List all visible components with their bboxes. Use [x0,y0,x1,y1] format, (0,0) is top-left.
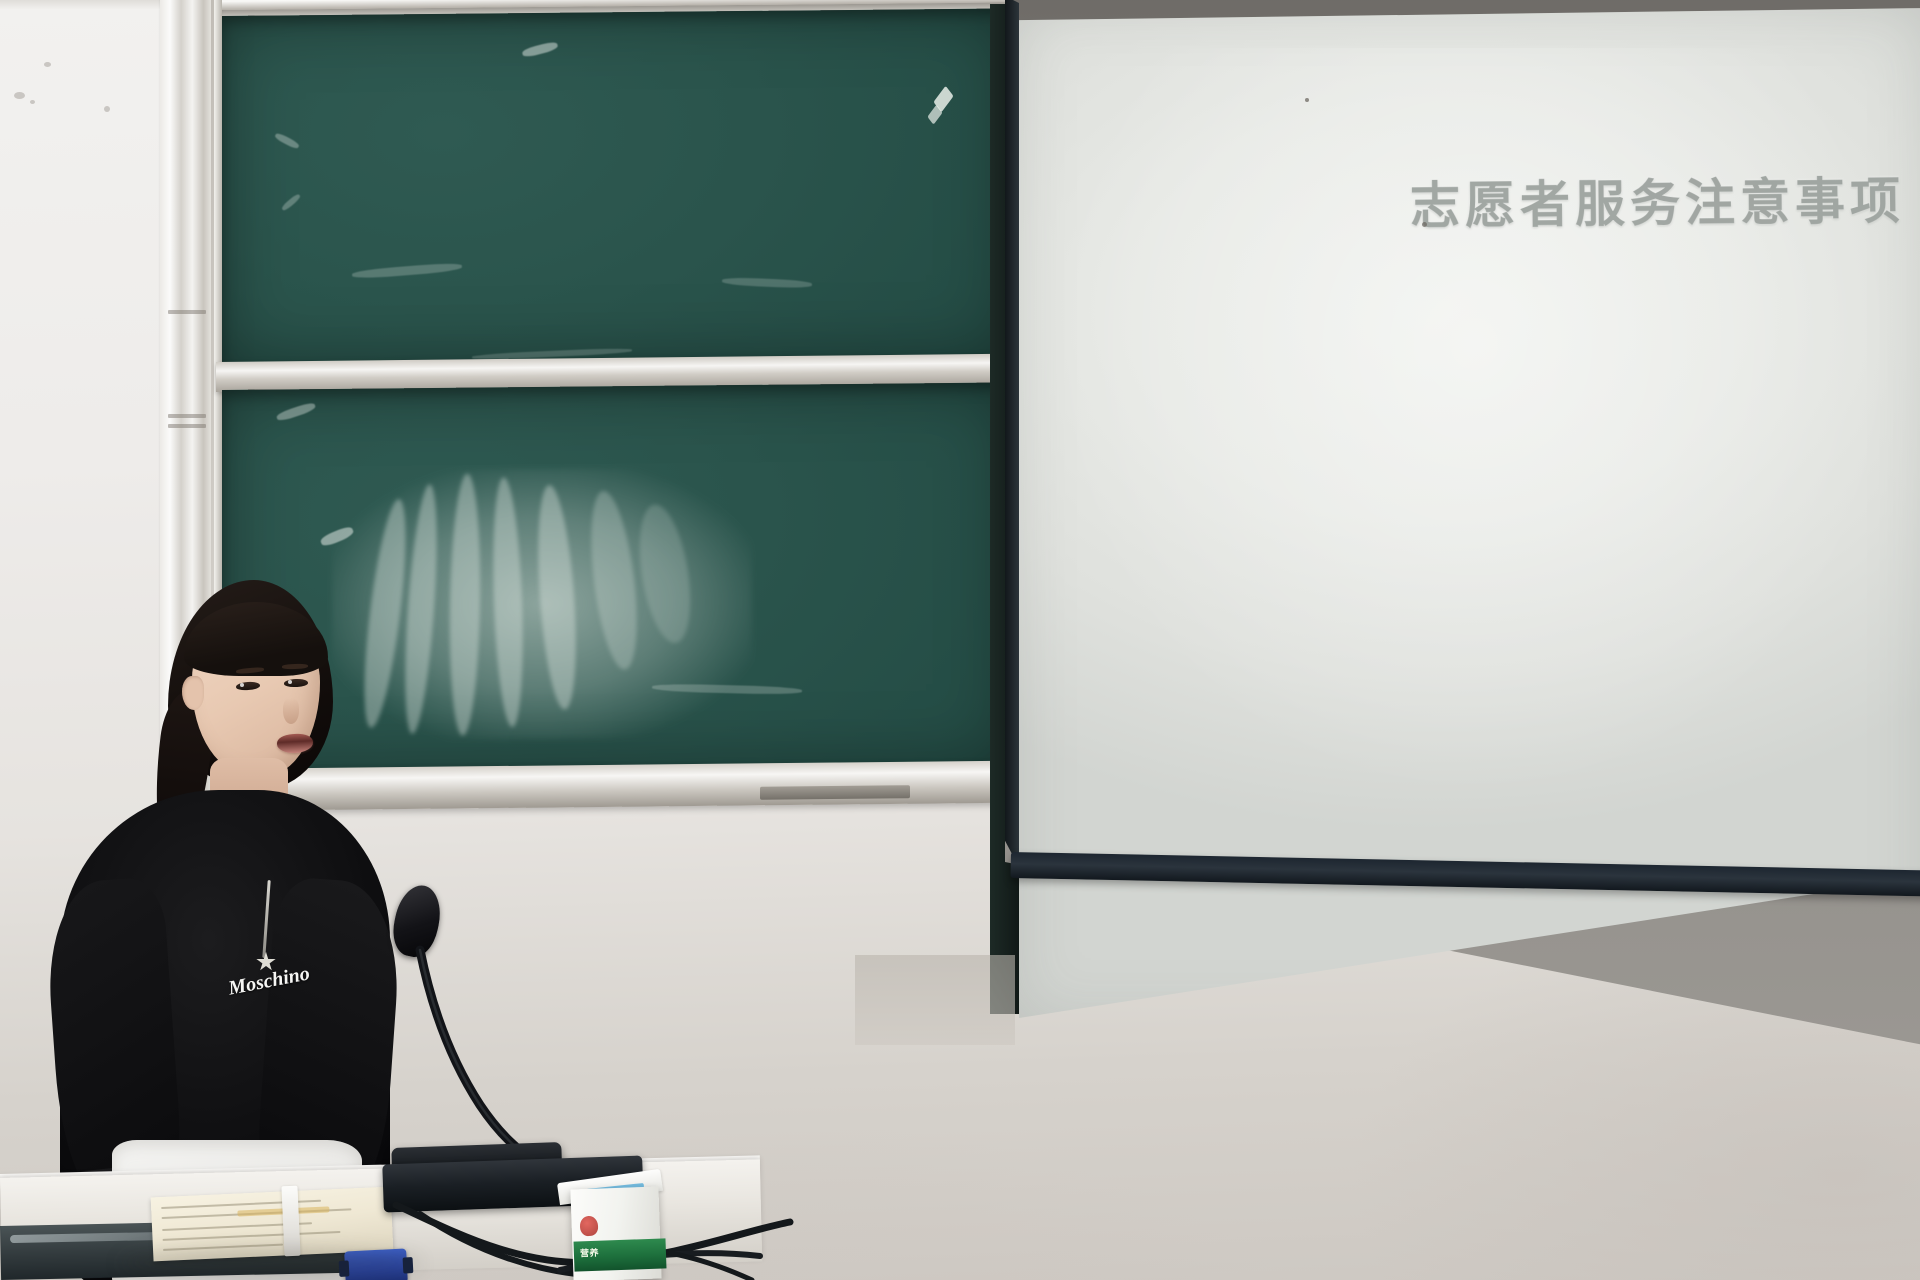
podium-shadow [120,1248,420,1278]
classroom-photo-scene: 志愿者服务注意事项 Moschino Moschino [0,0,1920,1280]
cables [0,0,1920,1280]
carton-logo-icon [579,1215,598,1236]
carton-band-label: 营养 [580,1246,599,1260]
